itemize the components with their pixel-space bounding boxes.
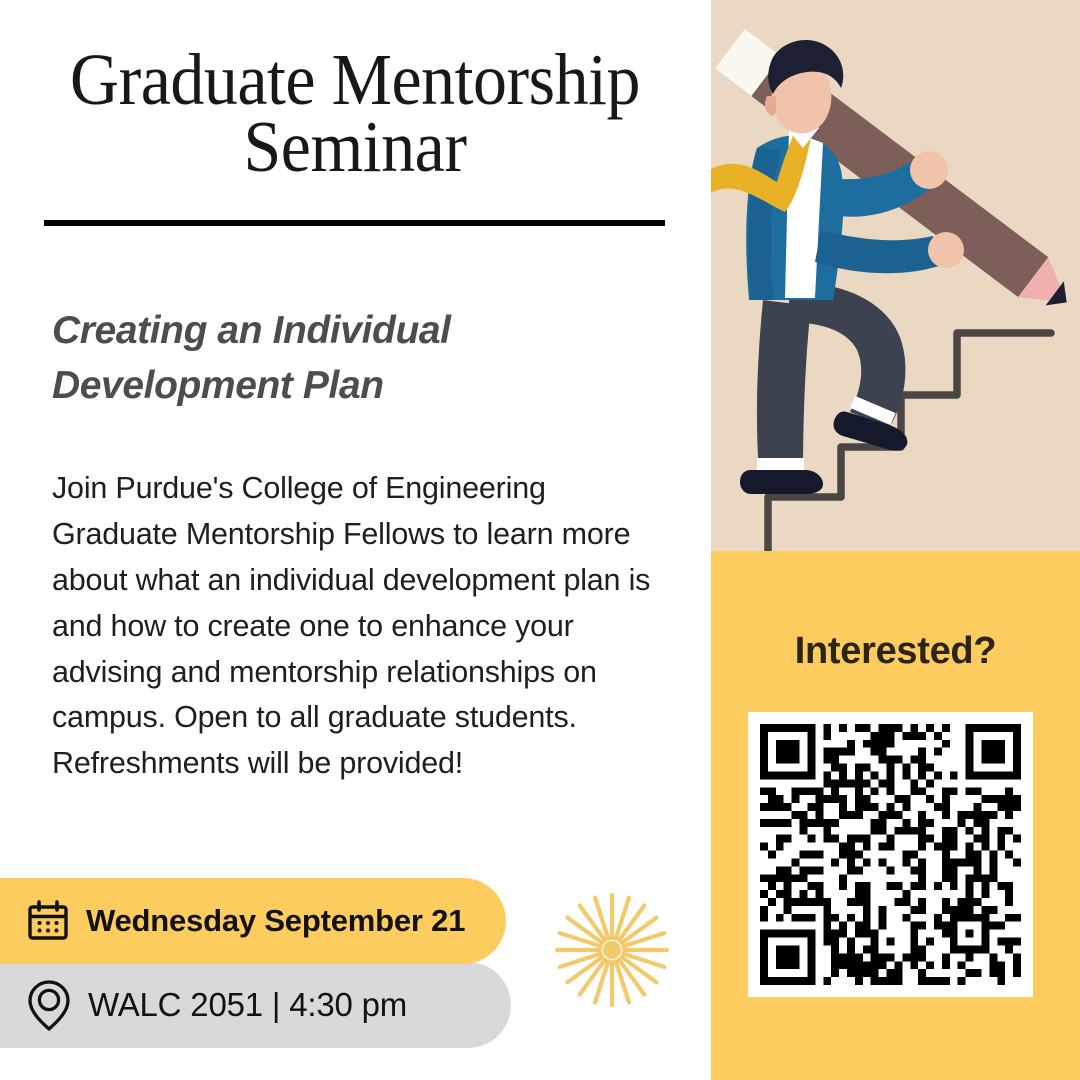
poster-subtitle: Creating an Individual Development Plan xyxy=(52,303,652,414)
qr-code-icon[interactable] xyxy=(760,724,1021,985)
person-climbing-stairs-with-pencil-illustration xyxy=(711,0,1080,551)
qr-code-frame xyxy=(748,712,1033,997)
poster-description: Join Purdue's College of Engineering Gra… xyxy=(52,466,662,787)
sunburst-icon xyxy=(552,890,672,1010)
calendar-icon xyxy=(26,899,70,943)
poster-left-column: Graduate Mentorship Seminar Creating an … xyxy=(0,0,711,1080)
location-pill: WALC 2051 | 4:30 pm xyxy=(0,962,511,1048)
date-label: Wednesday September 21 xyxy=(86,903,465,939)
title-divider xyxy=(44,220,665,226)
qr-panel: Interested? xyxy=(711,551,1080,1080)
illustration-panel xyxy=(711,0,1080,551)
cta-heading: Interested? xyxy=(711,630,1080,673)
map-pin-icon xyxy=(26,979,72,1031)
location-label: WALC 2051 | 4:30 pm xyxy=(88,986,407,1024)
page-title: Graduate Mentorship Seminar xyxy=(66,46,644,180)
poster-right-column: Interested? xyxy=(711,0,1080,1080)
title-block: Graduate Mentorship Seminar xyxy=(44,46,666,180)
date-pill: Wednesday September 21 xyxy=(0,878,506,964)
